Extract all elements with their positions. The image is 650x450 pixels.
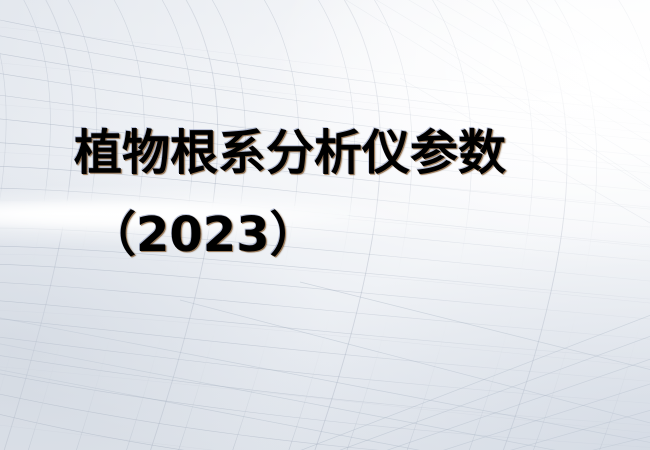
slide-title-block: 植物根系分析仪参数 （2023） (0, 0, 650, 450)
slide-title-line-1: 植物根系分析仪参数 (74, 124, 506, 182)
slide-title-line-2: （2023） (88, 206, 318, 264)
title-slide: 植物根系分析仪参数 （2023） (0, 0, 650, 450)
